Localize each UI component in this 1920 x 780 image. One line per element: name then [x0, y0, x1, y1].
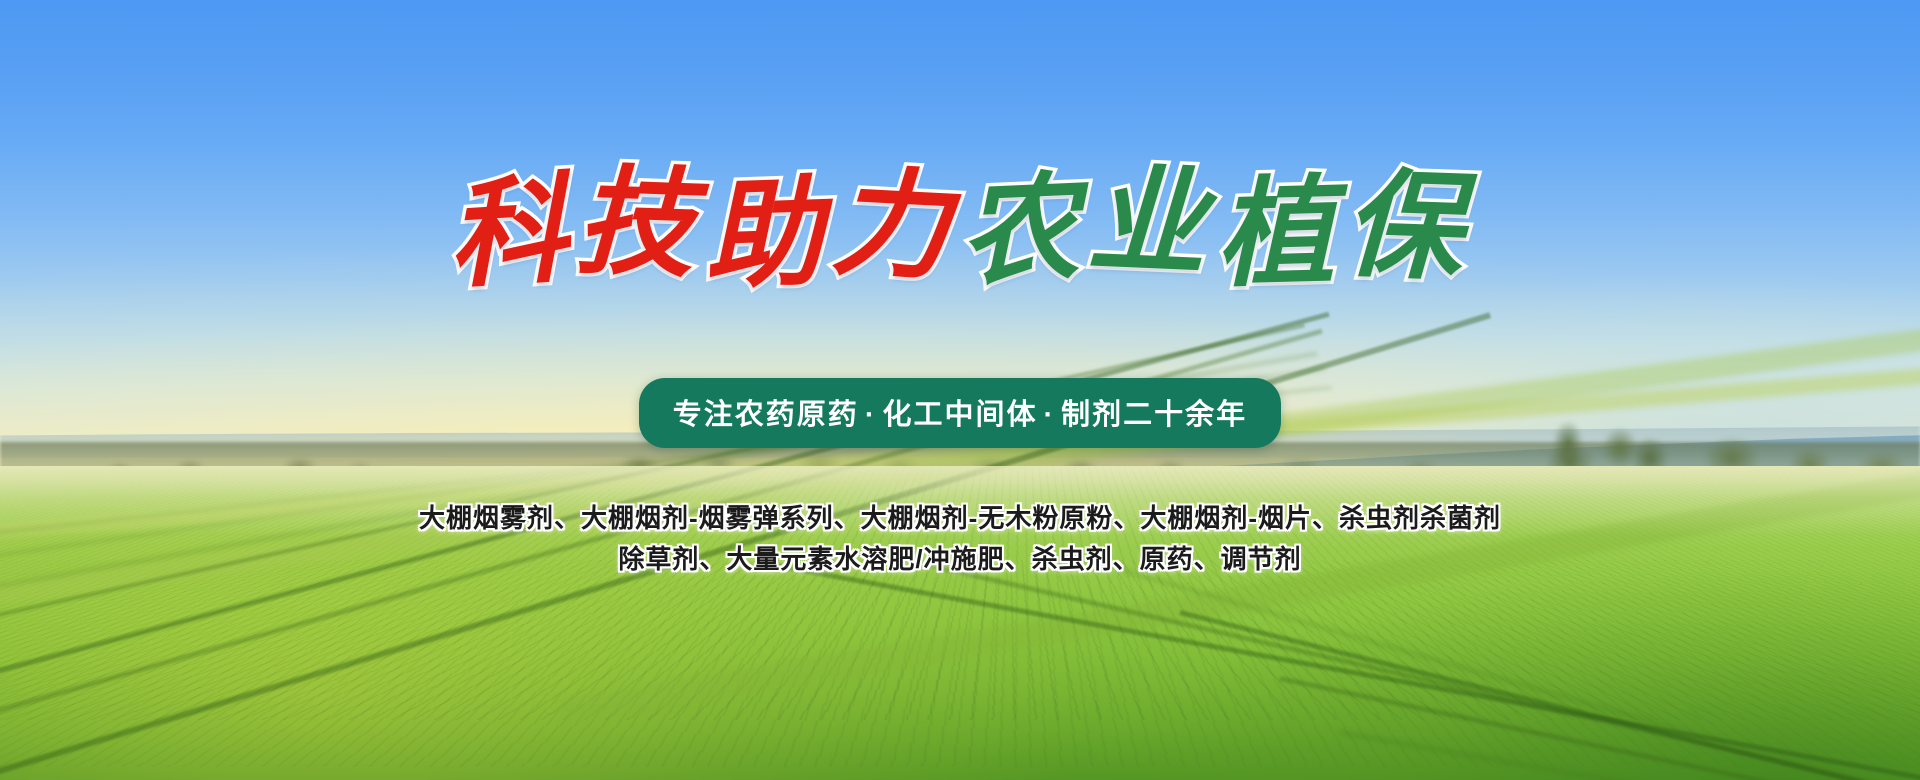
- product-list: 大棚烟雾剂、大棚烟剂-烟雾弹系列、大棚烟剂-无木粉原粉、大棚烟剂-烟片、杀虫剂杀…: [0, 498, 1920, 580]
- tagline-pill: 专注农药原药·化工中间体·制剂二十余年: [639, 378, 1281, 448]
- tagline-segment-1: 专注农药原药: [673, 399, 859, 431]
- headline-char-2: 技: [574, 161, 706, 286]
- headline-char-4: 力: [829, 162, 963, 289]
- headline-char-8: 保: [1342, 164, 1474, 289]
- headline-char-7: 植: [1215, 171, 1346, 295]
- tagline-segment-2: 化工中间体: [882, 399, 1037, 431]
- tagline-segment-3: 制剂二十余年: [1061, 399, 1247, 431]
- tagline-pill-wrapper: 专注农药原药·化工中间体·制剂二十余年: [0, 378, 1920, 448]
- hero-banner: 科技助力农业植保 专注农药原药·化工中间体·制剂二十余年 大棚烟雾剂、大棚烟剂-…: [0, 0, 1920, 780]
- product-line-1: 大棚烟雾剂、大棚烟剂-烟雾弹系列、大棚烟剂-无木粉原粉、大棚烟剂-烟片、杀虫剂杀…: [0, 498, 1920, 539]
- tagline-separator-1: ·: [859, 399, 883, 431]
- headline: 科技助力农业植保: [0, 168, 1920, 288]
- headline-char-1: 科: [445, 168, 580, 296]
- headline-char-6: 业: [1086, 159, 1219, 285]
- product-line-2: 除草剂、大量元素水溶肥/冲施肥、杀虫剂、原药、调节剂: [0, 539, 1920, 580]
- headline-char-5: 农: [958, 167, 1091, 293]
- tagline-separator-2: ·: [1038, 399, 1062, 431]
- headline-char-3: 助: [702, 172, 834, 297]
